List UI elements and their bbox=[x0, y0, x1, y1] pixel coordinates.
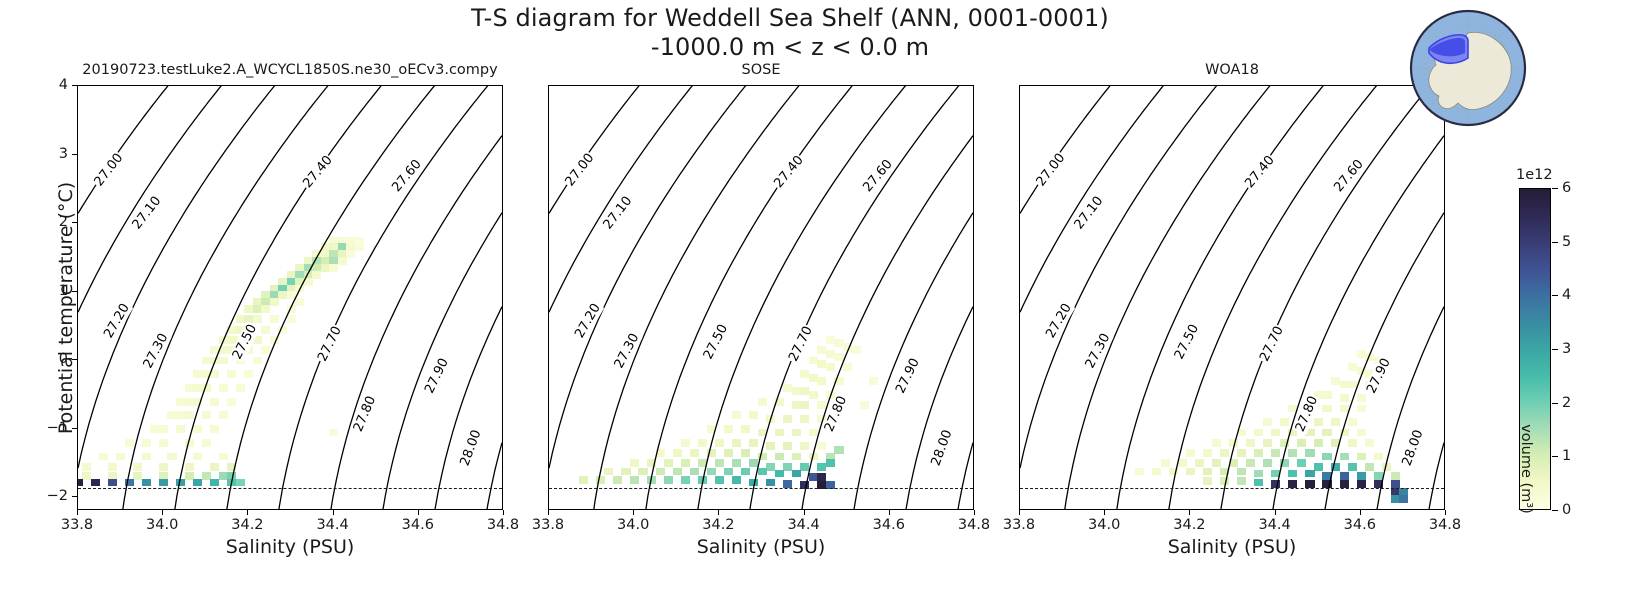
freezing-point-line bbox=[1020, 488, 1444, 489]
y-tick-label: 0 bbox=[59, 351, 68, 367]
colorbar-tick bbox=[1552, 242, 1558, 243]
density-contour bbox=[641, 86, 973, 509]
x-tick bbox=[718, 510, 719, 515]
x-tick-label: 34.0 bbox=[1088, 517, 1120, 533]
panel-title-model: 20190723.testLuke2.A_WCYCL1850S.ne30_oEC… bbox=[77, 62, 503, 82]
x-tick-label: 34.2 bbox=[1173, 517, 1205, 533]
x-tick bbox=[974, 510, 975, 515]
density-contour bbox=[78, 86, 343, 312]
colorbar-tick-label: 0 bbox=[1562, 502, 1571, 518]
x-tick bbox=[1104, 510, 1105, 515]
x-tick-label: 33.8 bbox=[61, 517, 93, 533]
density-contour-layer bbox=[1020, 86, 1444, 509]
y-tick-label: 3 bbox=[59, 146, 68, 162]
colorbar-tick-label: 1 bbox=[1562, 448, 1571, 464]
x-tick bbox=[503, 510, 504, 515]
x-tick bbox=[1189, 510, 1190, 515]
figure-canvas: T-S diagram for Weddell Sea Shelf (ANN, … bbox=[0, 0, 1650, 600]
panel-title-woa18: WOA18 bbox=[1019, 62, 1445, 82]
colorbar-tick bbox=[1552, 403, 1558, 404]
x-tick bbox=[1360, 510, 1361, 515]
panel-title-sose: SOSE bbox=[548, 62, 974, 82]
colorbar-tick-label: 2 bbox=[1562, 395, 1571, 411]
x-tick-label: 34.6 bbox=[402, 517, 434, 533]
density-contour bbox=[1059, 86, 1391, 509]
y-tick bbox=[72, 154, 77, 155]
y-tick bbox=[72, 85, 77, 86]
density-contour bbox=[428, 307, 502, 509]
colorbar-tick-label: 5 bbox=[1562, 234, 1571, 250]
y-tick-label: −1 bbox=[47, 420, 68, 436]
density-contour bbox=[78, 86, 290, 213]
x-tick-label: 33.8 bbox=[532, 517, 564, 533]
colorbar-tick bbox=[1552, 188, 1558, 189]
ts-panel-woa18 bbox=[1019, 85, 1445, 510]
density-contour bbox=[481, 443, 502, 509]
x-tick-label: 34.4 bbox=[787, 517, 819, 533]
density-contour bbox=[1165, 86, 1444, 509]
x-axis-label-sose: Salinity (PSU) bbox=[548, 536, 974, 566]
x-tick bbox=[1445, 510, 1446, 515]
y-tick-label: 4 bbox=[59, 77, 68, 93]
colorbar-tick bbox=[1552, 295, 1558, 296]
density-contour bbox=[588, 86, 920, 509]
x-tick bbox=[333, 510, 334, 515]
ts-panel-model bbox=[77, 85, 503, 510]
x-tick bbox=[633, 510, 634, 515]
x-tick-label: 34.0 bbox=[146, 517, 178, 533]
density-contour bbox=[549, 86, 761, 213]
y-axis: Potential temperature (°C) −2−101234 bbox=[40, 85, 77, 510]
y-tick bbox=[72, 359, 77, 360]
freezing-point-line bbox=[78, 488, 502, 489]
colorbar-offset-text: 1e12 bbox=[1516, 167, 1553, 183]
x-tick-label: 34.6 bbox=[1344, 517, 1376, 533]
density-contour bbox=[170, 86, 502, 509]
density-contour bbox=[1423, 443, 1444, 509]
x-tick-label: 33.8 bbox=[1003, 517, 1035, 533]
density-contour bbox=[1020, 86, 1232, 213]
density-contour bbox=[78, 86, 396, 468]
colorbar-tick bbox=[1552, 510, 1558, 511]
colorbar-tick-label: 4 bbox=[1562, 287, 1571, 303]
x-tick bbox=[1019, 510, 1020, 515]
x-tick-label: 34.8 bbox=[958, 517, 990, 533]
y-tick-label: −2 bbox=[47, 488, 68, 504]
x-axis-label-model: Salinity (PSU) bbox=[77, 536, 503, 566]
y-tick bbox=[72, 496, 77, 497]
x-tick bbox=[548, 510, 549, 515]
colorbar-tick bbox=[1552, 456, 1558, 457]
density-contour bbox=[549, 86, 867, 468]
density-contour bbox=[899, 307, 973, 509]
density-contour bbox=[1112, 86, 1444, 509]
x-tick bbox=[418, 510, 419, 515]
ts-panel-sose bbox=[548, 85, 974, 510]
x-tick-label: 34.4 bbox=[1258, 517, 1290, 533]
x-tick-label: 34.0 bbox=[617, 517, 649, 533]
x-tick bbox=[1275, 510, 1276, 515]
density-contour bbox=[952, 443, 973, 509]
x-tick-label: 34.2 bbox=[231, 517, 263, 533]
x-tick-label: 34.2 bbox=[702, 517, 734, 533]
x-tick-label: 34.6 bbox=[873, 517, 905, 533]
density-contour bbox=[1370, 307, 1444, 509]
density-contour bbox=[549, 86, 814, 312]
density-contour-layer bbox=[78, 86, 502, 509]
x-tick bbox=[804, 510, 805, 515]
antarctic-locator-map bbox=[1408, 8, 1528, 128]
x-axis-label-woa18: Salinity (PSU) bbox=[1019, 536, 1445, 566]
density-contour bbox=[1020, 86, 1285, 312]
x-tick-label: 34.8 bbox=[487, 517, 519, 533]
density-contour bbox=[223, 86, 502, 509]
colorbar-tick-label: 6 bbox=[1562, 180, 1571, 196]
x-tick-label: 34.4 bbox=[316, 517, 348, 533]
density-contour bbox=[117, 86, 449, 509]
y-tick bbox=[72, 428, 77, 429]
x-tick bbox=[77, 510, 78, 515]
x-tick bbox=[162, 510, 163, 515]
y-tick-label: 1 bbox=[59, 283, 68, 299]
y-tick-label: 2 bbox=[59, 214, 68, 230]
colorbar-label: volume (m³) bbox=[1518, 349, 1534, 589]
density-contour-layer bbox=[549, 86, 973, 509]
density-contour bbox=[1020, 86, 1338, 468]
x-tick bbox=[889, 510, 890, 515]
density-contour bbox=[694, 86, 973, 509]
y-tick bbox=[72, 222, 77, 223]
x-tick bbox=[247, 510, 248, 515]
x-tick-label: 34.8 bbox=[1429, 517, 1461, 533]
figure-title: T-S diagram for Weddell Sea Shelf (ANN, … bbox=[0, 4, 1580, 32]
figure-subtitle: -1000.0 m < z < 0.0 m bbox=[0, 33, 1580, 61]
freezing-point-line bbox=[549, 488, 973, 489]
colorbar-tick-label: 3 bbox=[1562, 341, 1571, 357]
y-tick bbox=[72, 291, 77, 292]
colorbar-tick bbox=[1552, 349, 1558, 350]
